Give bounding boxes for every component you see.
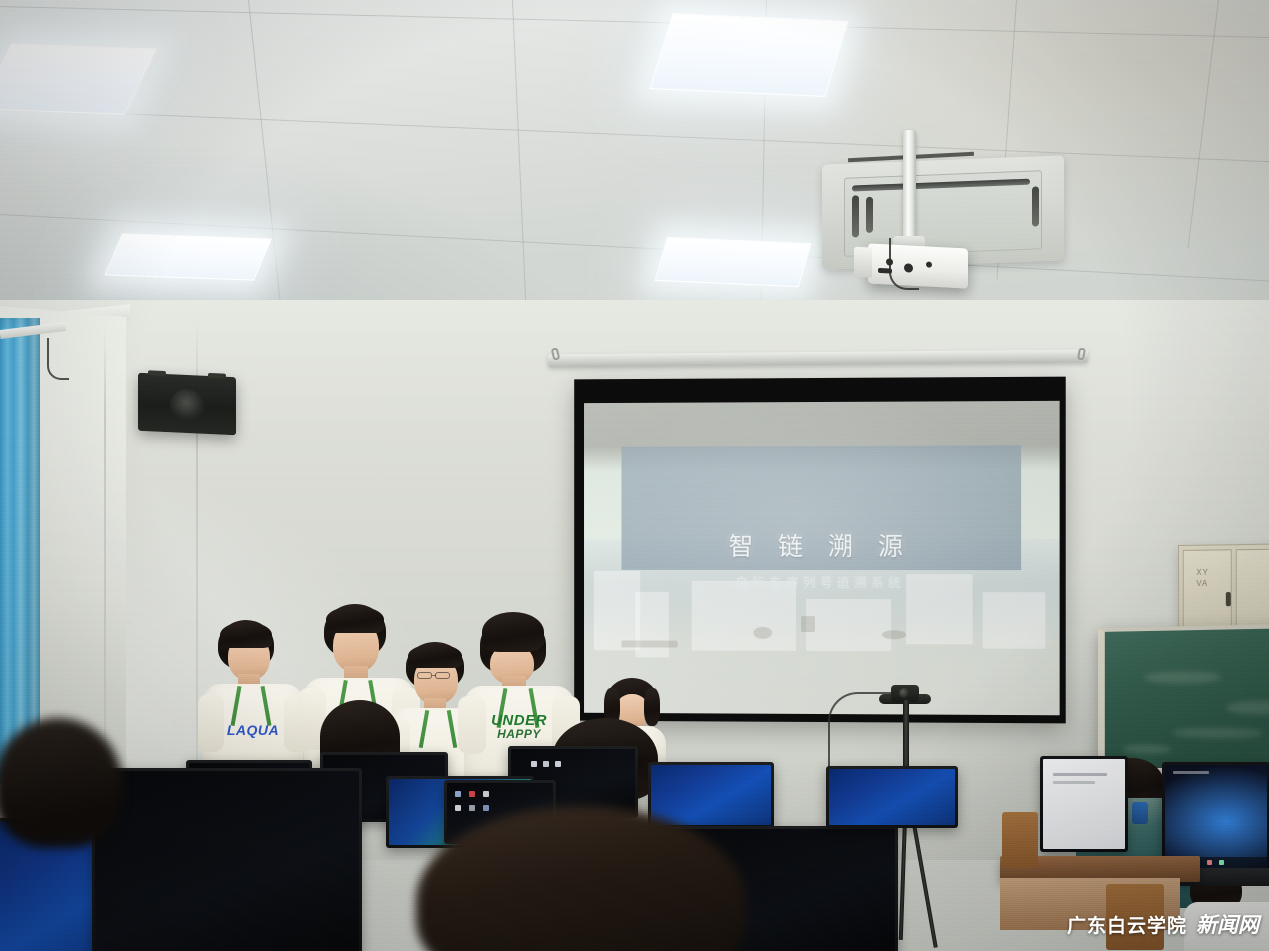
sleeve-left <box>198 694 224 752</box>
watermark-outlet: 新闻网 <box>1196 909 1259 939</box>
cabinet-marking: XY <box>1196 568 1208 577</box>
monitor-back-4[interactable] <box>648 762 774 828</box>
lanyard <box>1132 802 1148 824</box>
monitor-screen[interactable] <box>829 769 955 825</box>
chalk-mark <box>1122 745 1171 754</box>
watermark: 广东白云学院 新闻网 <box>1067 909 1259 939</box>
led-panel-mid-left <box>104 233 272 280</box>
projected-slide: 智 链 溯 源 自行车序列号追溯系统 <box>584 401 1060 715</box>
photo-detail <box>754 626 773 638</box>
hair-fringe <box>220 622 272 648</box>
taskbar-icon[interactable] <box>1219 860 1224 865</box>
window-curtain <box>0 318 40 784</box>
desktop-icon[interactable] <box>531 761 537 767</box>
photo-building <box>983 592 1046 648</box>
monitor-screen[interactable] <box>651 765 771 825</box>
ac-slot <box>866 197 873 233</box>
projector-pole <box>903 130 916 250</box>
chalk-mark <box>1171 728 1263 739</box>
document-line <box>1053 773 1107 776</box>
projector-cable <box>889 238 919 290</box>
desktop-icon[interactable] <box>555 761 561 767</box>
desktop-icon-browser[interactable] <box>455 805 461 811</box>
tshirt-graphic: LAQUA <box>212 724 294 737</box>
speaker-bracket <box>148 370 166 376</box>
document-screen[interactable] <box>1043 759 1125 849</box>
monitor-screen[interactable] <box>95 771 359 951</box>
desktop-icon-music[interactable] <box>469 791 475 797</box>
desktop-icon[interactable] <box>543 761 549 767</box>
chair[interactable] <box>1002 812 1038 868</box>
monitor-right-document[interactable] <box>1040 756 1128 852</box>
chalk-mark <box>1144 671 1221 683</box>
photo-detail <box>622 640 678 647</box>
speaker-cone <box>170 388 204 422</box>
hair-fringe <box>326 606 384 633</box>
chalk-mark <box>1226 701 1269 715</box>
photo-detail <box>801 616 815 632</box>
cabinet-door-right[interactable] <box>1236 549 1269 634</box>
hair-top <box>482 612 544 652</box>
photo-building <box>806 599 892 652</box>
ac-slot <box>1032 186 1039 226</box>
camera-lens-icon <box>899 688 909 698</box>
photo-detail <box>882 630 906 639</box>
hair-fringe <box>408 644 462 668</box>
slide-subtitle: 自行车序列号追溯系统 <box>584 572 1060 591</box>
cabinet-marking: VA <box>1196 579 1208 588</box>
glasses-bridge <box>432 675 436 676</box>
glasses-right-lens <box>435 672 450 679</box>
monitor-front-center[interactable] <box>92 768 362 951</box>
led-panel-mid-center <box>655 237 812 287</box>
glasses-left-lens <box>417 672 432 679</box>
speaker-bracket <box>208 373 226 379</box>
hanging-cable <box>47 338 69 380</box>
document-line <box>1053 781 1095 784</box>
taskbar-icon[interactable] <box>1207 860 1212 865</box>
desktop-icon-media[interactable] <box>455 791 461 797</box>
window-titlebar <box>1173 771 1209 774</box>
desktop-icon-folder[interactable] <box>483 791 489 797</box>
projection-screen: 智 链 溯 源 自行车序列号追溯系统 <box>574 377 1066 724</box>
laptop-screen[interactable] <box>1165 765 1267 869</box>
photo-building <box>636 591 669 657</box>
projector-knob <box>926 261 932 267</box>
led-panel-top-center <box>650 13 849 97</box>
desktop-icon-app[interactable] <box>469 805 475 811</box>
desktop-icon-tool[interactable] <box>483 805 489 811</box>
wall-speaker <box>138 373 236 435</box>
slide-title: 智 链 溯 源 <box>584 527 1060 563</box>
cabinet-door-left[interactable] <box>1183 549 1232 632</box>
watermark-organization: 广东白云学院 <box>1067 911 1187 938</box>
ac-slot <box>852 195 859 237</box>
photo-building <box>692 581 796 651</box>
cabinet-lock[interactable] <box>1226 592 1231 606</box>
tshirt-graphic-secondary: HAPPY <box>476 729 562 740</box>
foreground-head-left <box>0 718 122 848</box>
wall-seam <box>104 330 106 760</box>
monitor-right-blue[interactable] <box>826 766 958 828</box>
classroom-photo: 智 链 溯 源 自行车序列号追溯系统 XY VA LAQUA <box>0 0 1269 951</box>
